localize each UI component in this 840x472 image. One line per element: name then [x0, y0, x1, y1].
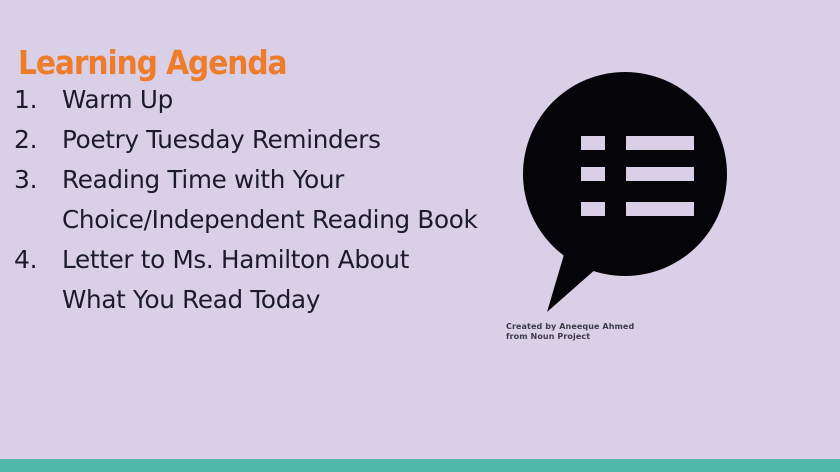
list-item-label: Poetry Tuesday Reminders [62, 120, 478, 160]
list-item-number: 3. [14, 160, 62, 200]
slide-canvas: Learning Agenda 1. Warm Up 2. Poetry Tue… [0, 0, 840, 472]
list-bar-2 [626, 167, 694, 181]
page-title: Learning Agenda [18, 43, 286, 83]
list-item: 1. Warm Up [14, 80, 484, 120]
list-bar-3 [626, 202, 694, 216]
list-item-number: 4. [14, 240, 62, 280]
list-item-label: Letter to Ms. Hamilton About What You Re… [62, 240, 478, 320]
agenda-list: 1. Warm Up 2. Poetry Tuesday Reminders 3… [14, 80, 484, 320]
list-bullet-square-3 [581, 202, 605, 216]
icon-attribution: Created by Aneeque Ahmed from Noun Proje… [506, 322, 726, 342]
list-item-label: Warm Up [62, 80, 478, 120]
speech-bubble-illustration [505, 62, 745, 327]
list-item: 4. Letter to Ms. Hamilton About What You… [14, 240, 484, 320]
bottom-accent-bar [0, 459, 840, 472]
list-bullet-square-2 [581, 167, 605, 181]
speech-bubble-list-icon [505, 62, 745, 327]
list-bar-1 [626, 136, 694, 150]
list-item-label: Reading Time with Your Choice/Independen… [62, 160, 478, 240]
list-item-number: 2. [14, 120, 62, 160]
list-item: 3. Reading Time with Your Choice/Indepen… [14, 160, 484, 240]
list-item-number: 1. [14, 80, 62, 120]
list-item: 2. Poetry Tuesday Reminders [14, 120, 484, 160]
list-bullet-square-1 [581, 136, 605, 150]
speech-bubble-body [523, 72, 727, 276]
